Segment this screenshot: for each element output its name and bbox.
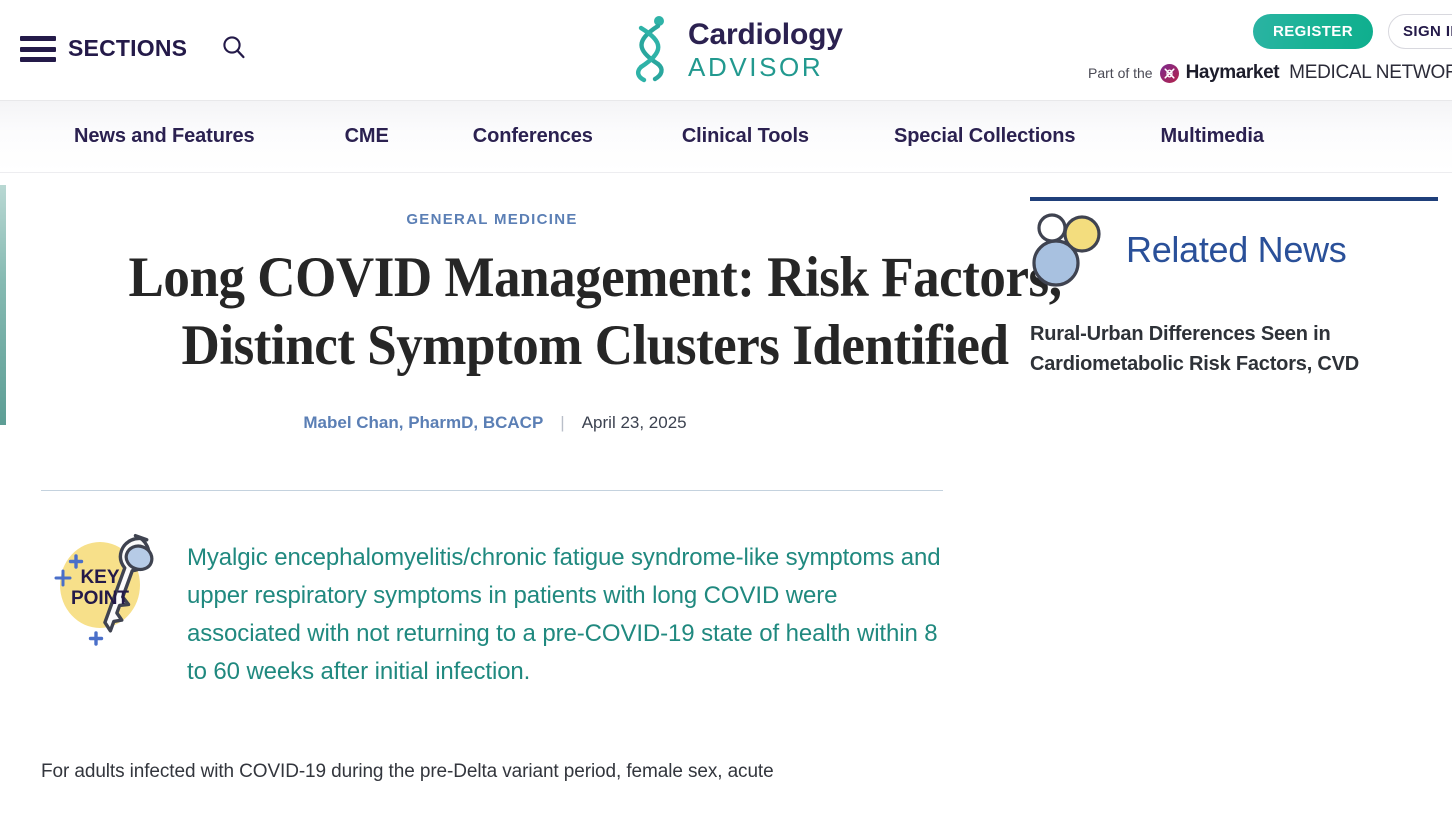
nav-item-news-and-features[interactable]: News and Features (74, 125, 255, 148)
logo-title: Cardiology (688, 20, 843, 50)
search-icon[interactable] (218, 32, 250, 64)
nav-item-clinical-tools[interactable]: Clinical Tools (682, 125, 809, 148)
sidebar-header: Related News (1030, 211, 1347, 289)
hamburger-bar (20, 36, 56, 41)
byline: Mabel Chan, PharmD, BCACP | April 23, 20… (6, 413, 984, 433)
nav-item-conferences[interactable]: Conferences (473, 125, 593, 148)
logo-subtitle: ADVISOR (688, 54, 843, 80)
haymarket-badge-icon (1160, 64, 1179, 83)
sidebar-title: Related News (1126, 229, 1347, 271)
key-point-callout: KEY POINT Myalgic encephalomyelitis/chro… (41, 523, 946, 691)
hamburger-bar (20, 47, 56, 52)
related-news-sidebar: Related News Rural-Urban Differences See… (1030, 173, 1452, 814)
sidebar-top-rule (1030, 197, 1438, 201)
related-article-link[interactable]: Rural-Urban Differences Seen in Cardiome… (1030, 319, 1430, 380)
headline-line-2: Distinct Symptom Clusters Identified (181, 314, 1008, 377)
register-button[interactable]: REGISTER (1253, 14, 1373, 49)
site-header: SECTIONS Cardiology ADVISOR REGISTER SIG… (0, 0, 1452, 101)
haymarket-brand: Haymarket (1186, 62, 1280, 84)
network-prefix: Part of the (1088, 65, 1153, 81)
hamburger-icon[interactable] (20, 36, 56, 62)
network-attribution: Part of the Haymarket MEDICAL NETWORK (1088, 62, 1452, 84)
sections-label[interactable]: SECTIONS (68, 35, 187, 62)
svg-text:POINT: POINT (71, 588, 129, 609)
cardiology-helix-icon (628, 12, 676, 86)
article-body-paragraph: For adults infected with COVID-19 during… (41, 757, 951, 788)
article-container: GENERAL MEDICINE Long COVID Management: … (0, 173, 984, 814)
byline-separator: | (560, 413, 564, 433)
page-title: Long COVID Management: Risk Factors, Dis… (46, 244, 1143, 381)
nav-item-special-collections[interactable]: Special Collections (894, 125, 1076, 148)
related-news-circles-icon (1030, 211, 1112, 289)
nav-item-cme[interactable]: CME (345, 125, 389, 148)
key-point-text: Myalgic encephalomyelitis/chronic fatigu… (181, 523, 946, 691)
article-category[interactable]: GENERAL MEDICINE (0, 211, 984, 228)
hamburger-bar (20, 57, 56, 62)
left-accent-bar (0, 185, 6, 425)
publish-date: April 23, 2025 (582, 413, 687, 433)
page-main: GENERAL MEDICINE Long COVID Management: … (0, 173, 1452, 814)
main-navigation: News and Features CME Conferences Clinic… (0, 101, 1452, 173)
headline-line-1: Long COVID Management: Risk Factors, (129, 246, 1062, 309)
svg-text:KEY: KEY (80, 567, 119, 588)
author-link[interactable]: Mabel Chan, PharmD, BCACP (303, 413, 543, 433)
key-point-icon: KEY POINT (41, 523, 181, 653)
nav-item-multimedia[interactable]: Multimedia (1160, 125, 1263, 148)
content-divider (41, 490, 943, 491)
signin-button[interactable]: SIGN IN (1388, 14, 1452, 49)
haymarket-network-label: MEDICAL NETWORK (1289, 62, 1452, 84)
site-logo[interactable]: Cardiology ADVISOR (628, 12, 843, 86)
